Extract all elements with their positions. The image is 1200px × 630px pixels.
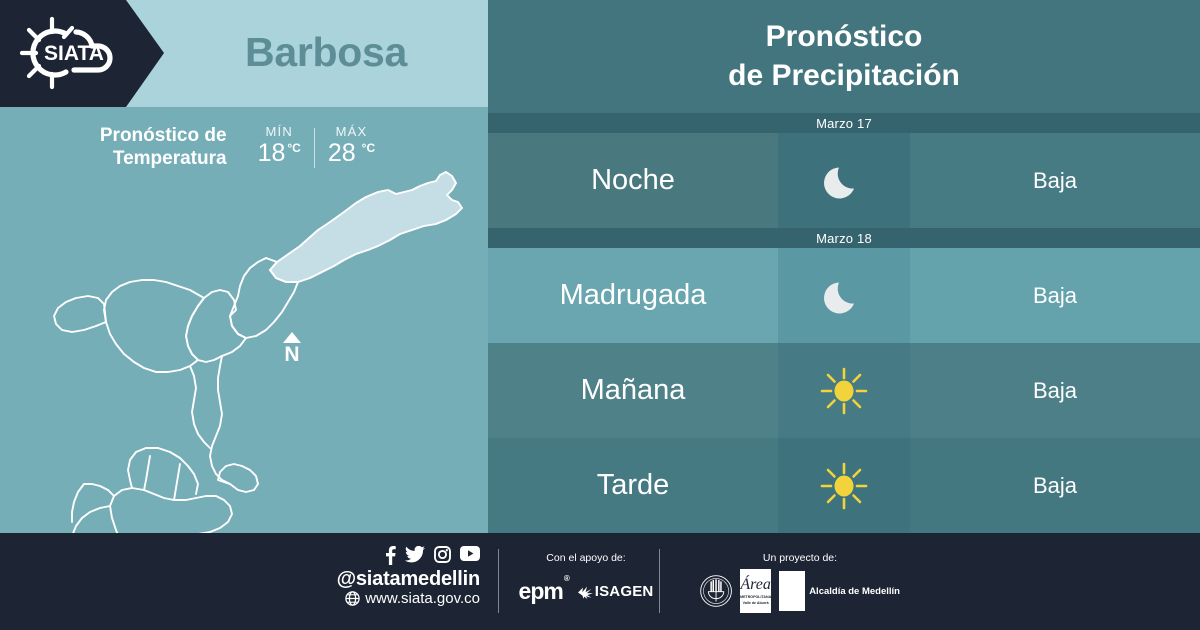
forecast-row-manana[interactable]: Mañana Ba [488,343,1200,438]
map-region-spine-2 [190,366,210,448]
temperature-title: Pronóstico de Temperatura [100,124,245,170]
right-panel: Pronóstico de Precipitación Marzo 17 Noc… [488,0,1200,533]
website-line[interactable]: www.siata.gov.co [300,590,480,607]
forecast-period-cell: Madrugada [488,248,778,343]
area-logo-sub2: Valle de Aburrá [743,601,769,605]
area-logo-sub1: METROPOLITANA [740,595,771,599]
social-handle[interactable]: @siatamedellin [300,568,480,590]
forecast-level-cell: Baja [910,248,1200,343]
map-boundary-b [174,464,180,500]
precipitation-title: Pronóstico de Precipitación [488,0,1200,113]
support-caption: Con el apoyo de: [510,552,662,564]
isagen-logo-text: ISAGEN [595,583,654,600]
forecast-period-cell: Noche [488,133,778,228]
date-strip-march-17: Marzo 17 [488,113,1200,133]
precipitation-title-line1: Pronóstico [766,18,923,56]
youtube-icon[interactable] [460,546,480,561]
map-boundary-c [84,484,114,496]
forecast-icon-cell [778,343,910,438]
twitter-icon[interactable] [405,546,425,563]
compass-north-indicator: N [277,332,307,365]
compass-label: N [277,344,307,365]
footer: @siatamedellin www.siata.gov.co Con el a… [0,533,1200,630]
forecast-level-label: Baja [1033,168,1077,194]
temperature-values: MÍN 18 °C MÁX 28 °C [245,124,389,168]
forecast-icon-cell [778,438,910,533]
facebook-icon[interactable] [385,546,396,565]
compass-arrow-icon [283,332,301,343]
area-logo-word: Área [740,577,771,593]
forecast-row-noche[interactable]: Noche Baja [488,133,1200,228]
alcaldia-label: Alcaldía de Medellín [809,586,900,597]
footer-divider-2 [659,549,660,613]
forecast-period-label: Noche [591,164,675,197]
epm-logo[interactable]: epm® [519,578,568,605]
footer-social-block: @siatamedellin www.siata.gov.co [300,546,480,607]
temperature-max: MÁX 28 °C [315,124,388,166]
left-panel: SIATA Barbosa Pronóstico de Temperatura … [0,0,488,533]
footer-divider-1 [498,549,499,613]
website-label: www.siata.gov.co [365,590,480,607]
forecast-level-label: Baja [1033,283,1077,309]
forecast-period-cell: Tarde [488,438,778,533]
map-region-envigado [110,488,232,533]
temperature-max-unit: °C [362,142,375,154]
map-region-barbosa [270,172,462,282]
moon-icon [821,273,867,319]
forecast-icon-cell [778,133,910,228]
forecast-icon-cell [778,248,910,343]
city-title: Barbosa [164,0,488,107]
project-logos: Área METROPOLITANA Valle de Aburrá Alcal… [700,568,900,614]
map-svg [0,150,488,533]
map-boundary-d [72,484,84,522]
temperature-title-line2: Temperatura [113,148,227,169]
map-region-itagui [218,464,258,492]
alcaldia-logo[interactable]: Alcaldía de Medellín [779,571,900,611]
temperature-header: Pronóstico de Temperatura MÍN 18 °C MÁX … [0,107,488,187]
epm-logo-text: epm [519,578,563,604]
area-metropolitana-logo[interactable]: Área METROPOLITANA Valle de Aburrá [740,569,771,613]
footer-support-block: Con el apoyo de: epm® ISAGEN [510,552,662,605]
map-boundary-a [144,456,150,490]
map-region-sabaneta [128,448,198,494]
map-region-medellin [54,296,106,332]
forecast-period-cell: Mañana [488,343,778,438]
temperature-min-unit: °C [287,142,300,154]
forecast-row-madrugada[interactable]: Madrugada Baja [488,248,1200,343]
forecast-level-label: Baja [1033,378,1077,404]
sun-icon [818,365,870,417]
precipitation-title-line2: de Precipitación [728,57,960,95]
instagram-icon[interactable] [434,546,451,563]
map-region-la-estrella [70,506,110,533]
forecast-level-cell: Baja [910,133,1200,228]
project-caption: Un proyecto de: [700,552,900,564]
temperature-max-label: MÁX [336,124,368,139]
map-region-bello [104,280,204,372]
forecast-period-label: Madrugada [560,279,707,312]
sun-cloud-icon: SIATA [14,12,134,94]
temperature-divider [314,128,315,168]
forecast-level-label: Baja [1033,473,1077,499]
forecast-level-cell: Baja [910,343,1200,438]
isagen-mark-icon [578,585,593,599]
globe-icon [345,591,360,606]
moon-icon [821,158,867,204]
temperature-title-line1: Pronóstico de [100,125,227,146]
alcaldia-mark-icon [779,571,805,611]
temperature-min-value: 18 [258,141,286,166]
sun-icon [818,460,870,512]
support-logos: epm® ISAGEN [510,578,662,605]
udea-seal-icon [700,568,732,614]
aburra-valley-map [0,150,488,533]
isagen-logo[interactable]: ISAGEN [578,583,654,600]
temperature-max-value: 28 [328,141,356,166]
temperature-min: MÍN 18 °C [245,124,314,166]
social-icons [300,546,480,565]
siata-logo-text: SIATA [44,42,104,65]
temperature-min-label: MÍN [265,124,292,139]
forecast-period-label: Tarde [597,469,670,502]
footer-project-block: Un proyecto de: Área METROPOLITANA Valle… [700,552,900,614]
weather-forecast-poster: SIATA Barbosa Pronóstico de Temperatura … [0,0,1200,630]
date-strip-march-18: Marzo 18 [488,228,1200,248]
forecast-level-cell: Baja [910,438,1200,533]
forecast-row-tarde[interactable]: Tarde Baj [488,438,1200,533]
forecast-period-label: Mañana [581,374,686,407]
